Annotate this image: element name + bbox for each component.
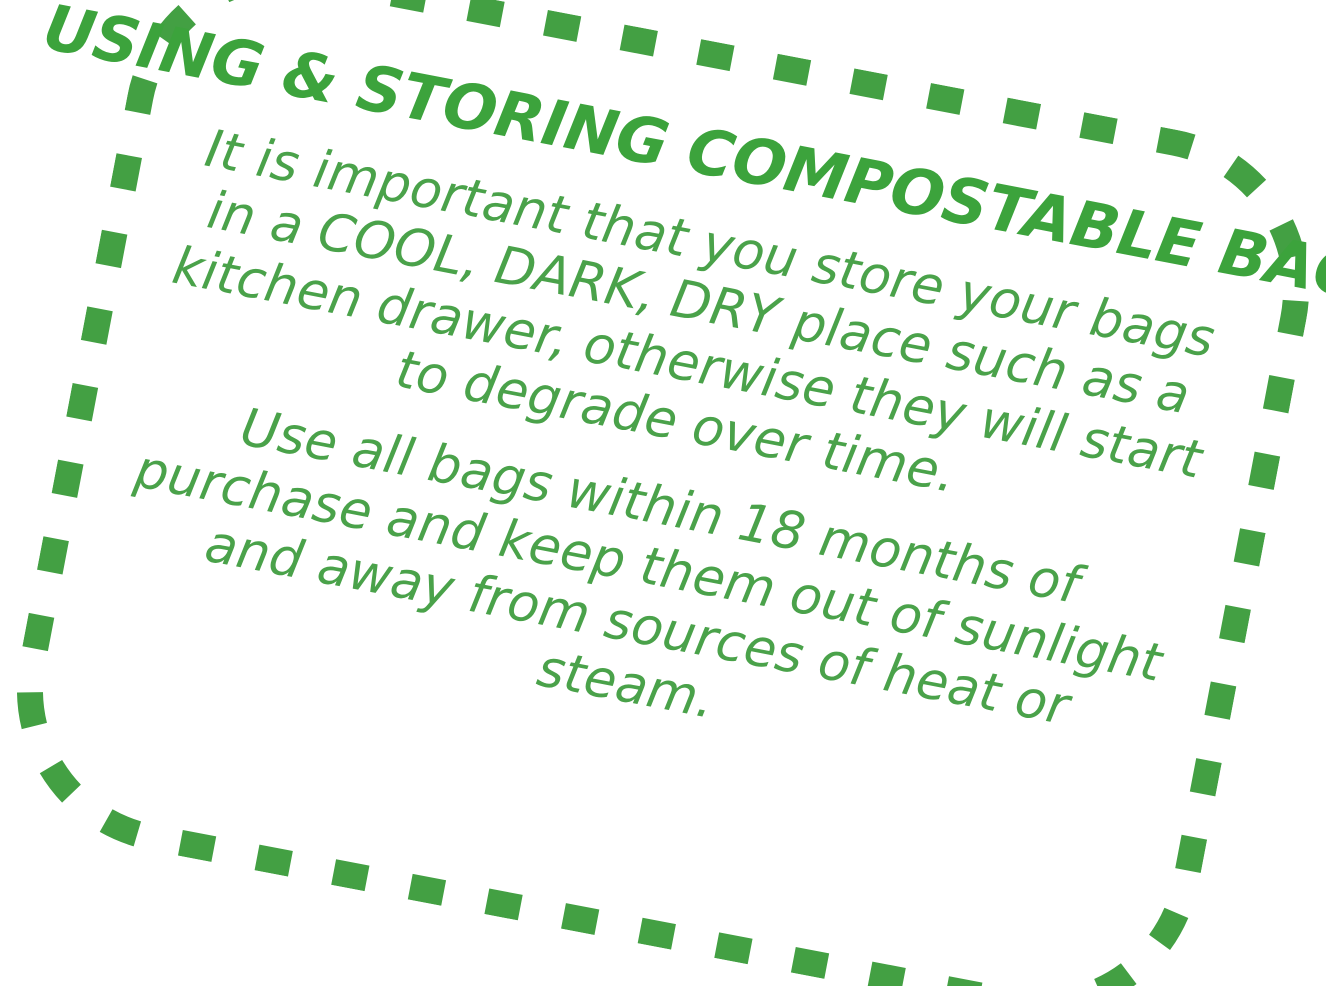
label-canvas: USING & STORING COMPOSTABLE BAGS It is i… <box>0 0 1326 986</box>
compostable-bags-instruction-label: USING & STORING COMPOSTABLE BAGS It is i… <box>0 0 1326 986</box>
label-text-block: USING & STORING COMPOSTABLE BAGS It is i… <box>69 8 1256 973</box>
